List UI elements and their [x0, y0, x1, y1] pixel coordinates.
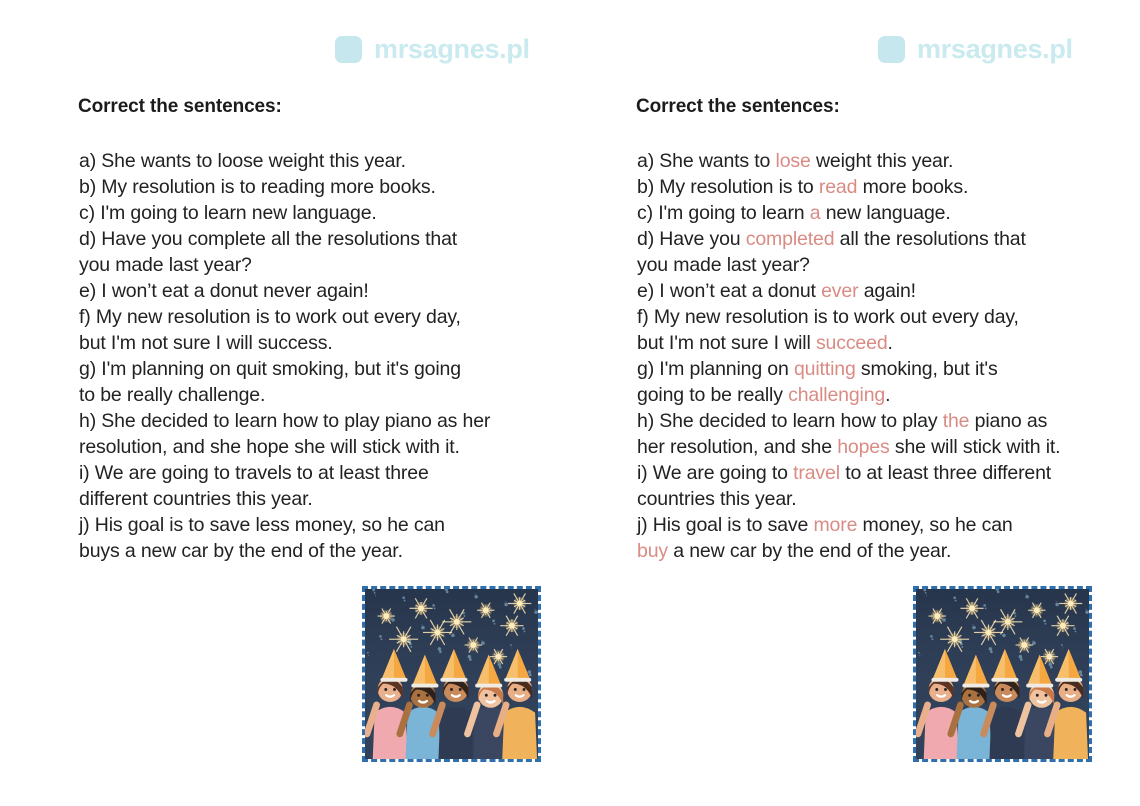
sentence-line: buys a new car by the end of the year. [79, 538, 569, 564]
sentence-line: countries this year. [637, 486, 1127, 512]
sentence-text: b) My resolution is to reading more book… [79, 176, 436, 198]
sentence-list: a) She wants to loose weight this year.b… [79, 148, 569, 564]
sentence-text: money, so he can [857, 514, 1012, 536]
sentence-line: j) His goal is to save less money, so he… [79, 512, 569, 538]
correction-word: the [943, 410, 970, 432]
page-title: Correct the sentences: [636, 96, 840, 118]
sentence-line: her resolution, and she hopes she will s… [637, 434, 1127, 460]
sentence-text: you made last year? [637, 254, 810, 276]
sentence-text: i) We are going to [637, 462, 793, 484]
correction-word: travel [793, 462, 840, 484]
sentence-line: h) She decided to learn how to play the … [637, 408, 1127, 434]
sentence-line: but I'm not sure I will succeed. [637, 330, 1127, 356]
sentence-text: c) I'm going to learn [637, 202, 810, 224]
sentence-line: you made last year? [637, 252, 1127, 278]
sentence-line: resolution, and she hope she will stick … [79, 434, 569, 460]
correction-word: ever [821, 280, 858, 302]
sentence-text: weight this year. [811, 150, 954, 172]
sentence-text: d) Have you complete all the resolutions… [79, 228, 457, 250]
sentence-line: different countries this year. [79, 486, 569, 512]
sentence-line: buy a new car by the end of the year. [637, 538, 1127, 564]
sentence-text: i) We are going to travels to at least t… [79, 462, 429, 484]
sentence-text: a new car by the end of the year. [668, 540, 951, 562]
sentence-text: g) I'm planning on [637, 358, 794, 380]
sentence-text: to at least three different [840, 462, 1051, 484]
sentence-text: j) His goal is to save less money, so he… [79, 514, 445, 536]
sentence-text: all the resolutions that [834, 228, 1025, 250]
sentence-text: a) She wants to [637, 150, 776, 172]
sentence-line: f) My new resolution is to work out ever… [637, 304, 1127, 330]
sentence-text: h) She decided to learn how to play pian… [79, 410, 490, 432]
sentence-text: smoking, but it's [856, 358, 998, 380]
correction-word: completed [746, 228, 835, 250]
sentence-line: a) She wants to lose weight this year. [637, 148, 1127, 174]
correction-word: challenging [788, 384, 885, 406]
sentence-line: h) She decided to learn how to play pian… [79, 408, 569, 434]
sentence-line: e) I won’t eat a donut never again! [79, 278, 569, 304]
illustration-frame[interactable] [913, 586, 1092, 762]
correction-word: buy [637, 540, 668, 562]
worksheet-page: mrsagnes.pl Correct the sentences: a) Sh… [0, 0, 1140, 806]
sentence-text: piano as [969, 410, 1047, 432]
sentence-text: more books. [857, 176, 968, 198]
sentence-text: different countries this year. [79, 488, 313, 510]
sentence-text: but I'm not sure I will success. [79, 332, 333, 354]
sentence-text: she will stick with it. [890, 436, 1061, 458]
sentence-line: d) Have you completed all the resolution… [637, 226, 1127, 252]
sentence-line: g) I'm planning on quitting smoking, but… [637, 356, 1127, 382]
logo-mark-icon [335, 36, 362, 63]
sentence-text: e) I won’t eat a donut [637, 280, 821, 302]
sentence-line: i) We are going to travels to at least t… [79, 460, 569, 486]
site-logo: mrsagnes.pl [335, 36, 530, 63]
sentence-list: a) She wants to lose weight this year.b)… [637, 148, 1127, 564]
sentence-text: new language. [820, 202, 950, 224]
logo-text: mrsagnes.pl [374, 36, 530, 63]
sentence-line: going to be really challenging. [637, 382, 1127, 408]
sentence-line: c) I'm going to learn new language. [79, 200, 569, 226]
sentence-line: to be really challenge. [79, 382, 569, 408]
sentence-line: but I'm not sure I will success. [79, 330, 569, 356]
correction-word: lose [776, 150, 811, 172]
correction-word: quitting [794, 358, 856, 380]
sentence-text: f) My new resolution is to work out ever… [79, 306, 461, 328]
sentence-text: b) My resolution is to [637, 176, 819, 198]
sentence-line: a) She wants to loose weight this year. [79, 148, 569, 174]
answer-key-column: mrsagnes.pl Correct the sentences: a) Sh… [628, 0, 1128, 806]
sentence-line: g) I'm planning on quit smoking, but it'… [79, 356, 569, 382]
sentence-text: countries this year. [637, 488, 797, 510]
page-title: Correct the sentences: [78, 96, 282, 118]
sentence-line: c) I'm going to learn a new language. [637, 200, 1127, 226]
sentence-text: you made last year? [79, 254, 252, 276]
sentence-text: to be really challenge. [79, 384, 265, 406]
sentence-line: b) My resolution is to reading more book… [79, 174, 569, 200]
sentence-line: e) I won’t eat a donut ever again! [637, 278, 1127, 304]
celebration-illustration [365, 589, 538, 759]
sentence-text: her resolution, and she [637, 436, 837, 458]
sentence-text: d) Have you [637, 228, 746, 250]
site-logo: mrsagnes.pl [878, 36, 1073, 63]
logo-mark-icon [878, 36, 905, 63]
sentence-text: resolution, and she hope she will stick … [79, 436, 460, 458]
sentence-line: d) Have you complete all the resolutions… [79, 226, 569, 252]
worksheet-column: mrsagnes.pl Correct the sentences: a) Sh… [70, 0, 570, 806]
sentence-text: again! [858, 280, 916, 302]
sentence-text: f) My new resolution is to work out ever… [637, 306, 1019, 328]
sentence-line: b) My resolution is to read more books. [637, 174, 1127, 200]
correction-word: a [810, 202, 821, 224]
correction-word: more [813, 514, 857, 536]
sentence-text: g) I'm planning on quit smoking, but it'… [79, 358, 461, 380]
correction-word: hopes [837, 436, 889, 458]
sentence-text: c) I'm going to learn new language. [79, 202, 377, 224]
correction-word: read [819, 176, 857, 198]
sentence-line: f) My new resolution is to work out ever… [79, 304, 569, 330]
sentence-text: going to be really [637, 384, 788, 406]
sentence-text: a) She wants to loose weight this year. [79, 150, 406, 172]
sentence-line: i) We are going to travel to at least th… [637, 460, 1127, 486]
sentence-text: buys a new car by the end of the year. [79, 540, 403, 562]
sentence-text: h) She decided to learn how to play [637, 410, 943, 432]
sentence-text: . [888, 332, 893, 354]
sentence-text: e) I won’t eat a donut never again! [79, 280, 369, 302]
illustration-frame[interactable] [362, 586, 541, 762]
sentence-text: j) His goal is to save [637, 514, 813, 536]
logo-text: mrsagnes.pl [917, 36, 1073, 63]
sentence-text: but I'm not sure I will [637, 332, 816, 354]
sentence-line: you made last year? [79, 252, 569, 278]
celebration-illustration [916, 589, 1089, 759]
sentence-line: j) His goal is to save more money, so he… [637, 512, 1127, 538]
correction-word: succeed [816, 332, 888, 354]
sentence-text: . [885, 384, 890, 406]
